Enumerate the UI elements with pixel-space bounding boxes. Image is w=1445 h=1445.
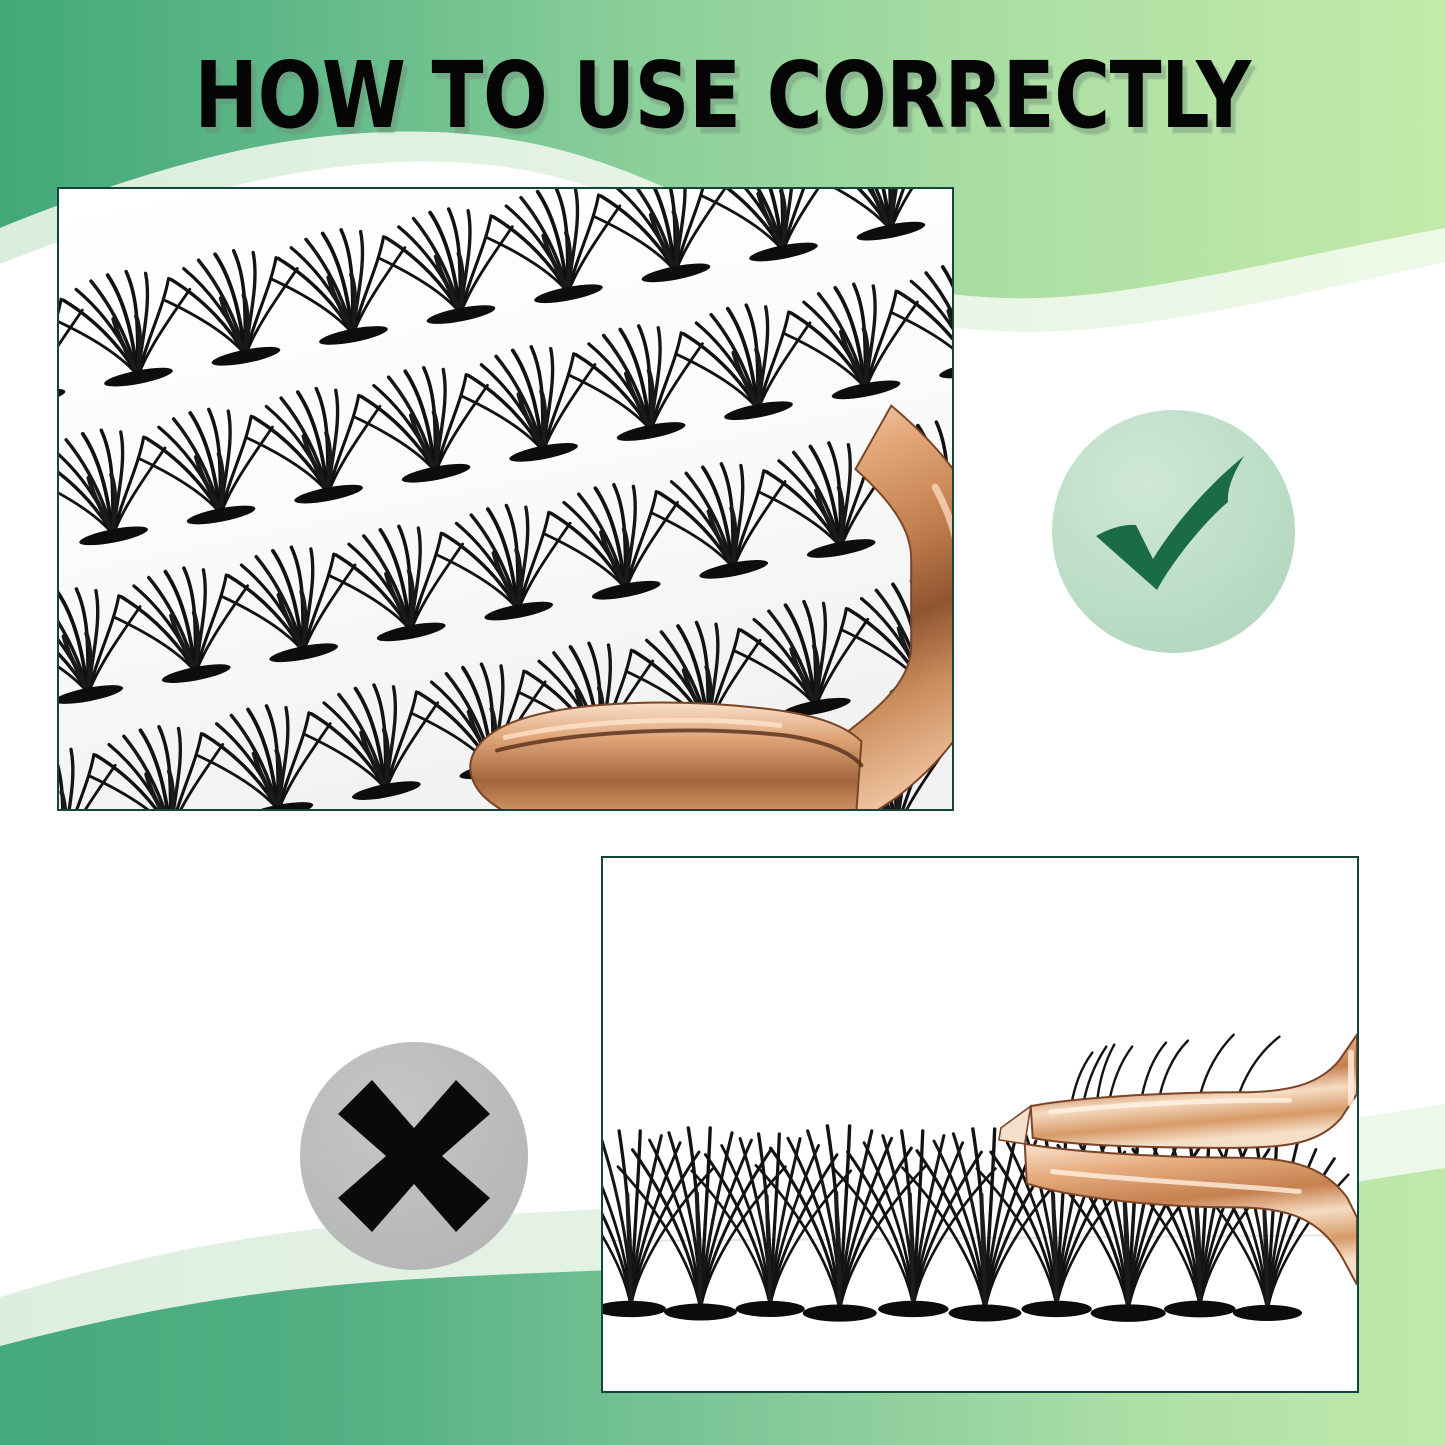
cross-icon <box>300 1042 528 1270</box>
lash-tray-topdown-illustration <box>59 189 952 809</box>
lash-side-view-illustration <box>603 858 1357 1391</box>
check-badge <box>1052 410 1295 653</box>
check-icon <box>1052 410 1295 653</box>
cross-badge <box>300 1042 528 1270</box>
page-title: HOW TO USE CORRECTLY <box>58 48 1387 145</box>
correct-usage-photo <box>57 187 954 811</box>
incorrect-usage-photo <box>601 856 1359 1393</box>
poster-root: HOW TO USE CORRECTLY <box>0 0 1445 1445</box>
